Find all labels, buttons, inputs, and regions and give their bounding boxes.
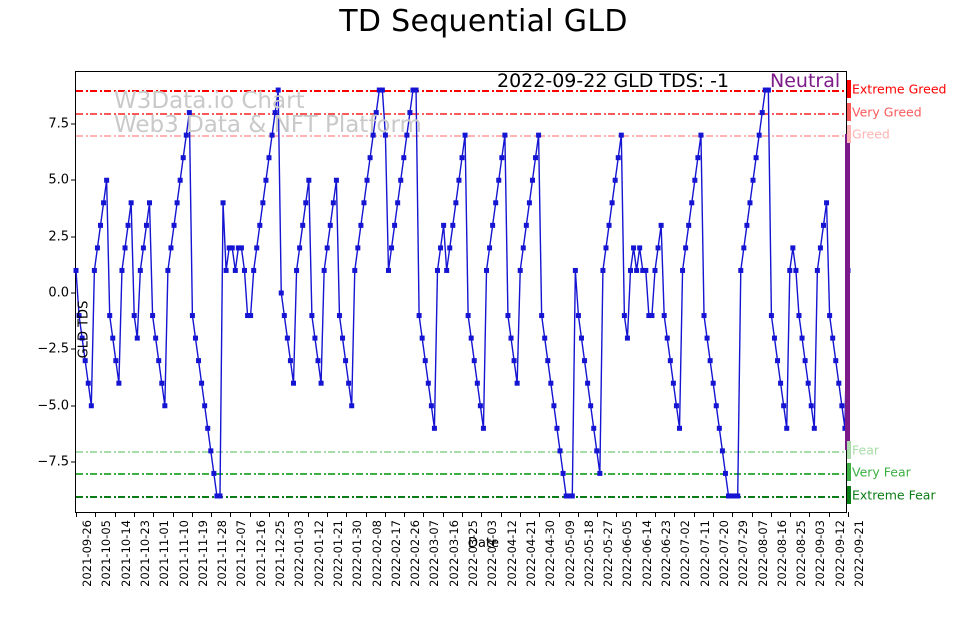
x-tick-label: 2022-03-07 [427,520,441,587]
watermark-line-1: W3Data.io Chart [114,88,305,114]
page-title: TD Sequential GLD [0,4,967,39]
x-tick-label: 2022-06-23 [659,520,673,587]
current-state-bar [845,134,850,450]
y-tick-label: 0.0 [48,286,69,301]
current-value-annotation: 2022-09-22 GLD TDS: -1 [497,70,729,92]
side-label-greed: Greed [852,127,890,142]
series-gld-tds [76,72,848,514]
chart-page: TD Sequential GLD 7.55.02.50.0−2.5−5.0−7… [0,0,967,633]
x-tick-label: 2021-12-25 [273,520,287,587]
x-tick-label: 2022-04-21 [524,520,538,587]
x-tick-label: 2022-01-03 [292,520,306,587]
x-tick-label: 2022-05-18 [582,520,596,587]
x-tick-mark [848,512,849,517]
side-label-extreme-greed: Extreme Greed [852,82,946,97]
watermark-line-2: Web3 Data & NFT Platform [114,112,422,138]
threshold-swatch [847,103,851,121]
threshold-swatch [847,486,851,504]
x-tick-label: 2022-01-12 [312,520,326,587]
x-tick-label: 2022-09-12 [833,520,847,587]
x-tick-label: 2022-03-25 [466,520,480,587]
x-tick-label: 2022-04-12 [505,520,519,587]
x-tick-label: 2022-04-03 [485,520,499,587]
x-tick-label: 2022-02-08 [370,520,384,587]
y-tick-label: 5.0 [48,173,69,188]
threshold-swatch [847,80,851,98]
x-tick-label: 2022-08-16 [775,520,789,587]
x-tick-label: 2022-02-17 [389,520,403,587]
x-tick-label: 2022-06-05 [620,520,634,587]
y-axis-label: GLD TDS [77,270,92,390]
side-label-extreme-fear: Extreme Fear [852,487,936,502]
x-tick-label: 2021-10-23 [138,520,152,587]
x-tick-label: 2022-09-03 [813,520,827,587]
x-tick-label: 2022-02-26 [408,520,422,587]
threshold-swatch [847,463,851,481]
x-tick-label: 2022-07-11 [698,520,712,587]
y-tick-label: −7.5 [37,455,69,470]
x-tick-label: 2022-03-16 [447,520,461,587]
x-tick-label: 2021-10-14 [119,520,133,587]
y-tick-label: −5.0 [37,398,69,413]
x-tick-label: 2021-12-16 [254,520,268,587]
current-state-annotation: Neutral [770,70,840,92]
y-tick-label: −2.5 [37,342,69,357]
threshold-swatch [847,125,851,143]
x-tick-label: 2022-08-25 [794,520,808,587]
x-tick-label: 2022-05-09 [563,520,577,587]
threshold-swatch [847,441,851,459]
x-tick-label: 2022-01-21 [331,520,345,587]
x-tick-label: 2022-05-27 [601,520,615,587]
x-tick-label: 2022-07-29 [736,520,750,587]
y-tick-label: 7.5 [48,116,69,131]
x-tick-label: 2021-09-26 [80,520,94,587]
x-axis-label: Date [0,536,967,551]
x-tick-label: 2022-08-07 [756,520,770,587]
x-tick-label: 2022-07-02 [678,520,692,587]
y-tick-label: 2.5 [48,229,69,244]
side-label-fear: Fear [852,442,879,457]
x-tick-label: 2021-11-28 [215,520,229,587]
x-tick-label: 2022-01-30 [350,520,364,587]
side-label-very-fear: Very Fear [852,465,911,480]
side-label-very-greed: Very Greed [852,104,922,119]
x-tick-label: 2022-06-14 [640,520,654,587]
x-tick-label: 2021-11-19 [196,520,210,587]
plot-canvas: 7.55.02.50.0−2.5−5.0−7.52021-09-262021-1… [76,72,846,512]
x-tick-label: 2021-11-01 [157,520,171,587]
x-tick-label: 2022-04-30 [543,520,557,587]
x-tick-label: 2022-09-21 [852,520,866,587]
x-tick-label: 2021-12-07 [234,520,248,587]
x-tick-label: 2021-11-10 [177,520,191,587]
x-tick-label: 2022-07-20 [717,520,731,587]
x-tick-label: 2021-10-05 [99,520,113,587]
